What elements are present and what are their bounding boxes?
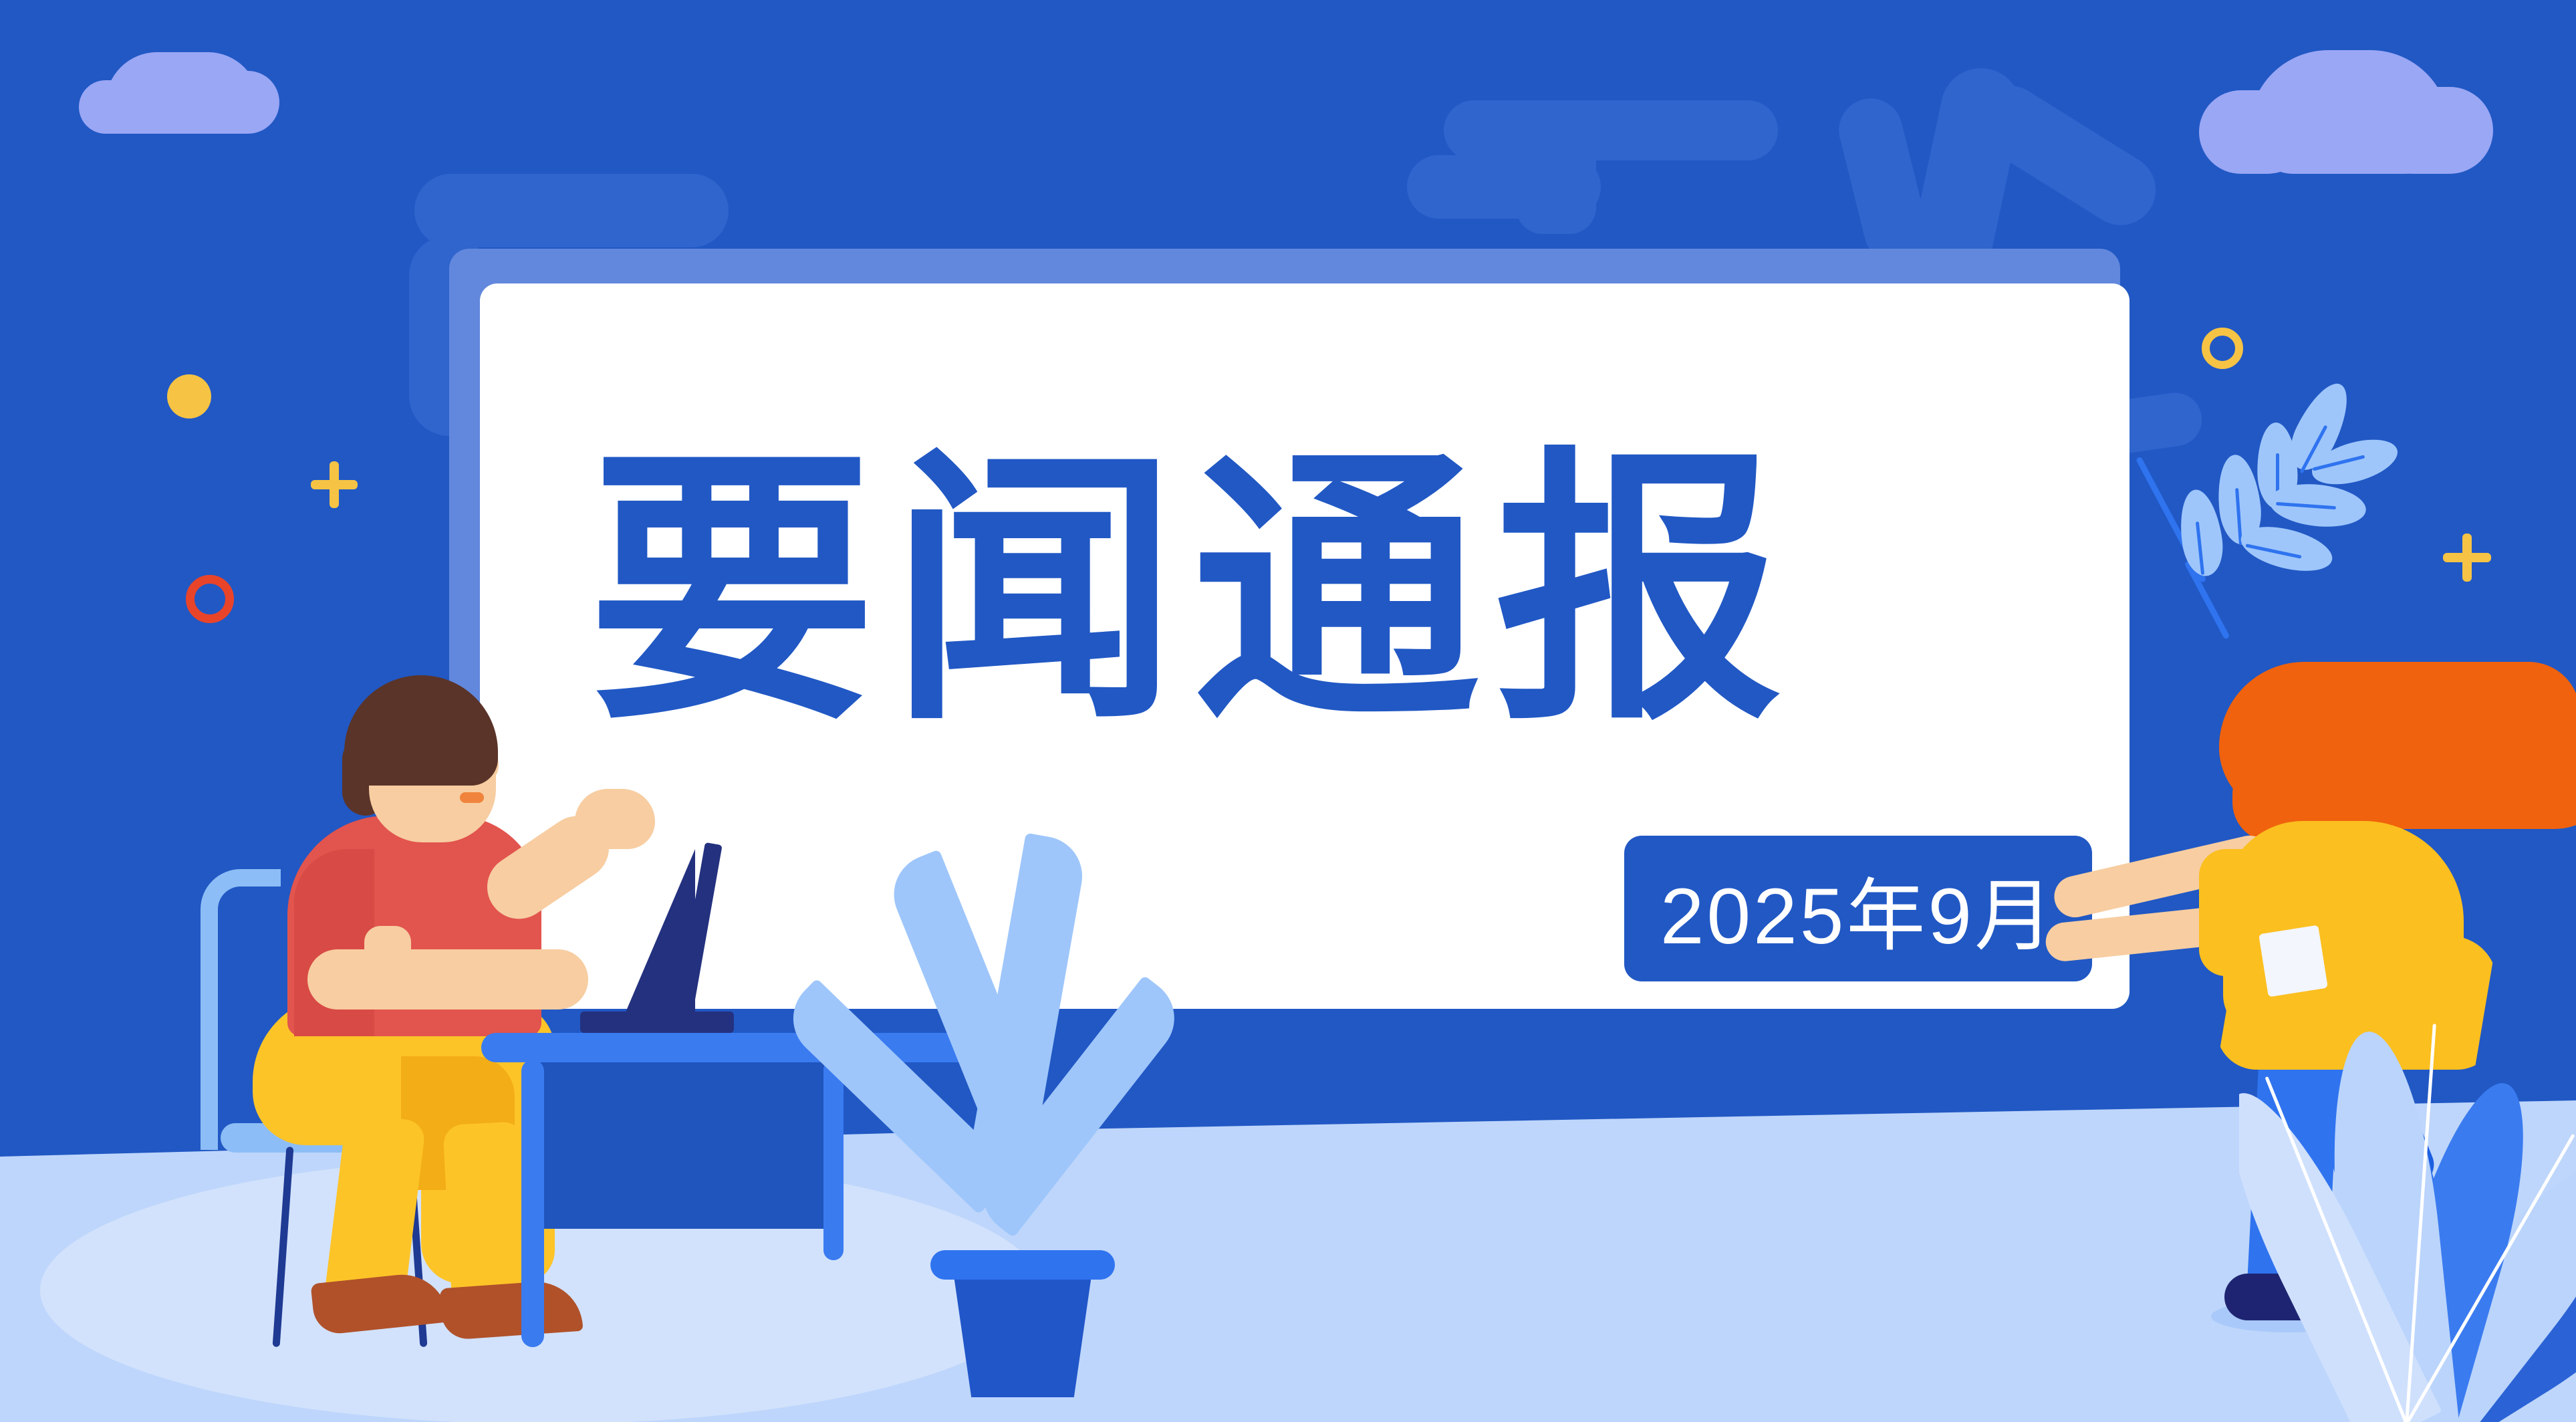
man-lower-arm — [307, 949, 588, 1010]
dot-icon — [167, 374, 211, 419]
desk-shadow — [538, 1062, 832, 1229]
laptop-base — [580, 1012, 734, 1033]
chair-leg — [273, 1147, 294, 1347]
circle-outline-icon — [186, 575, 234, 623]
plant-pot-rim — [930, 1250, 1115, 1280]
plus-icon — [2443, 534, 2491, 582]
plus-icon — [311, 461, 358, 508]
woman-paper — [2259, 925, 2328, 997]
woman-hair-wave — [2353, 715, 2576, 829]
poster-canvas: 要闻通报 2025年9月 — [0, 0, 2576, 1422]
man-fist — [364, 926, 411, 973]
bg-rounded-bar — [414, 174, 729, 247]
date-badge: 2025年9月 — [1624, 836, 2092, 981]
cloud-icon — [2199, 23, 2493, 174]
bg-rounded-bar — [1444, 100, 1778, 160]
man-mouth — [460, 792, 484, 803]
palm-fronds-decor — [2239, 996, 2576, 1422]
man-hair — [344, 675, 498, 786]
bg-rounded-bar — [1516, 127, 1596, 234]
desk-leg — [823, 1060, 844, 1260]
man-shoe — [440, 1279, 584, 1340]
man-hand — [575, 789, 655, 849]
page-title: 要闻通报 — [588, 398, 2059, 786]
desk-leg — [521, 1060, 544, 1347]
potted-plant-illustration — [876, 849, 1170, 1371]
cloud-icon — [79, 27, 279, 134]
leaf-branch-icon — [2169, 361, 2390, 642]
bg-tonal-leaf — [1832, 92, 1934, 269]
